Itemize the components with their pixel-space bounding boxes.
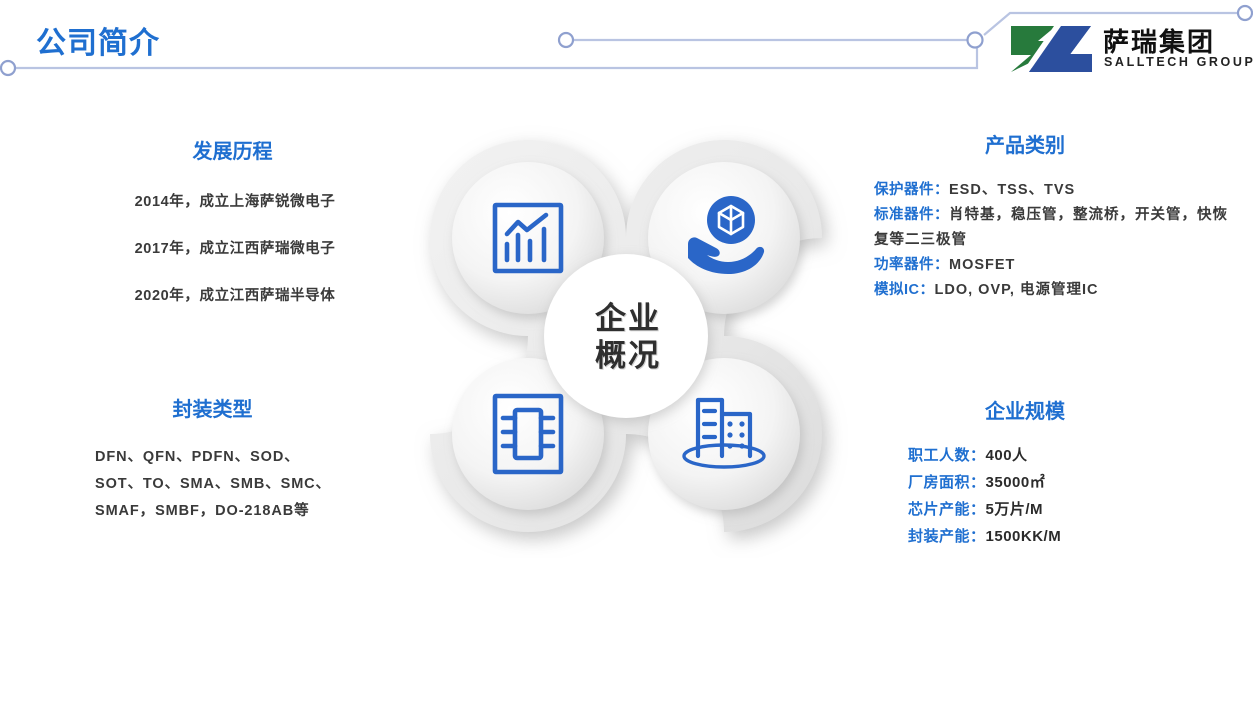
history-timeline: 2014年，成立上海萨锐微电子 2017年，成立江西萨瑞微电子 2020年，成立… xyxy=(60,190,410,305)
center-disc xyxy=(544,254,708,418)
history-item: 2017年，成立江西萨瑞微电子 xyxy=(60,237,410,258)
section-scale-title: 企业规模 xyxy=(860,400,1190,424)
product-label: 功率器件： xyxy=(874,257,949,273)
section-package-title: 封装类型 xyxy=(60,398,365,422)
deco-dot-left xyxy=(1,61,15,75)
scale-label: 职工人数： xyxy=(908,447,986,464)
scale-value: 1500KK/M xyxy=(986,528,1062,545)
center-infographic: 企业 概况 xyxy=(408,118,848,558)
section-history: 发展历程 2014年，成立上海萨锐微电子 2017年，成立江西萨瑞微电子 202… xyxy=(60,140,410,331)
scale-row: 厂房面积：35000㎡ xyxy=(908,469,1240,496)
scale-value: 35000㎡ xyxy=(986,474,1046,491)
logo-chinese-name: 萨瑞集团 xyxy=(1103,22,1215,59)
history-item: 2014年，成立上海萨锐微电子 xyxy=(60,190,410,211)
product-row: 功率器件：MOSFET xyxy=(874,253,1240,278)
scale-value: 5万片/M xyxy=(986,501,1044,518)
section-package-types: 封装类型 DFN、QFN、PDFN、SOD、SOT、TO、SMA、SMB、SMC… xyxy=(60,398,370,525)
product-label: 模拟IC： xyxy=(874,282,935,298)
logo-english-name: SALLTECH GROUP xyxy=(1104,55,1253,69)
scale-list: 职工人数：400人 厂房面积：35000㎡ 芯片产能：5万片/M 封装产能：15… xyxy=(860,442,1240,550)
history-item: 2020年，成立江西萨瑞半导体 xyxy=(60,284,410,305)
scale-label: 芯片产能： xyxy=(908,501,986,518)
deco-dot-mid xyxy=(559,33,573,47)
slide-header: 公司简介 萨瑞集团 SALLTECH GROUP xyxy=(0,0,1253,95)
package-types-body: DFN、QFN、PDFN、SOD、SOT、TO、SMA、SMB、SMC、SMAF… xyxy=(60,444,345,525)
product-label: 标准器件： xyxy=(874,207,949,223)
product-row: 保护器件：ESD、TSS、TVS xyxy=(874,178,1240,203)
scale-value: 400人 xyxy=(986,447,1028,464)
product-label: 保护器件： xyxy=(874,182,949,198)
scale-label: 厂房面积： xyxy=(908,474,986,491)
scale-row: 封装产能：1500KK/M xyxy=(908,523,1240,550)
product-row: 模拟IC：LDO, OVP, 电源管理IC xyxy=(874,278,1240,303)
company-logo: 萨瑞集团 SALLTECH GROUP xyxy=(1009,22,1241,78)
page-title: 公司简介 xyxy=(36,18,160,62)
product-value: MOSFET xyxy=(949,257,1015,273)
section-products-title: 产品类别 xyxy=(860,134,1190,158)
deco-dot-right xyxy=(1238,6,1252,20)
scale-label: 封装产能： xyxy=(908,528,986,545)
scale-row: 芯片产能：5万片/M xyxy=(908,496,1240,523)
product-row: 标准器件：肖特基，稳压管，整流桥，开关管，快恢复等二三极管 xyxy=(874,203,1240,253)
slide-root: 公司简介 萨瑞集团 SALLTECH GROUP 发展历程 2014年，成立上海… xyxy=(0,0,1253,702)
logo-mark-icon xyxy=(1009,24,1095,74)
section-history-title: 发展历程 xyxy=(60,140,405,164)
product-value: LDO, OVP, 电源管理IC xyxy=(935,282,1099,298)
scale-row: 职工人数：400人 xyxy=(908,442,1240,469)
section-enterprise-scale: 企业规模 职工人数：400人 厂房面积：35000㎡ 芯片产能：5万片/M 封装… xyxy=(860,400,1240,550)
deco-dot-junction xyxy=(968,33,983,48)
section-product-categories: 产品类别 保护器件：ESD、TSS、TVS 标准器件：肖特基，稳压管，整流桥，开… xyxy=(860,134,1240,303)
product-list: 保护器件：ESD、TSS、TVS 标准器件：肖特基，稳压管，整流桥，开关管，快恢… xyxy=(860,178,1240,303)
product-value: ESD、TSS、TVS xyxy=(949,182,1075,198)
